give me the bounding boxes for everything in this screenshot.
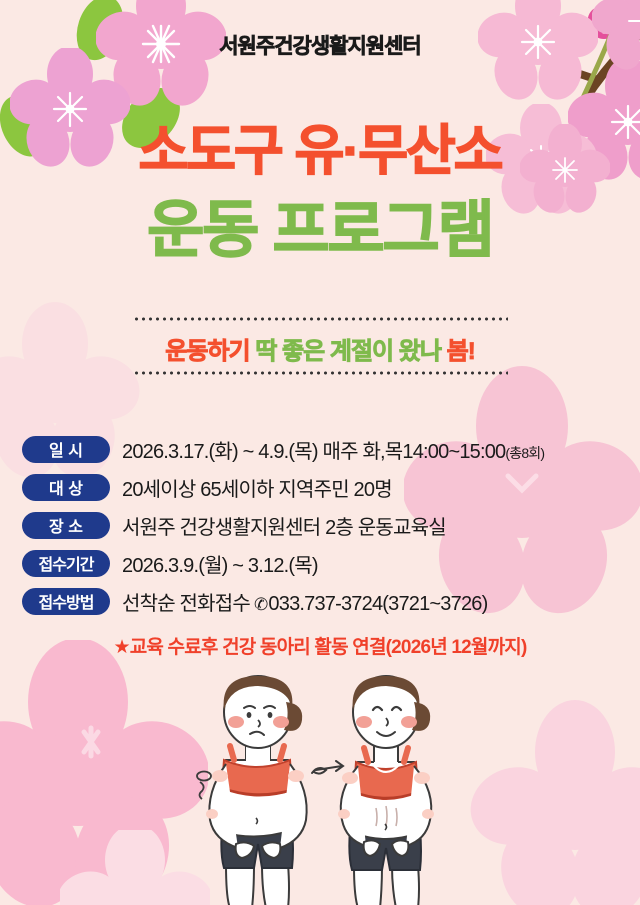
phone-icon: ✆ [254, 595, 267, 614]
title-line-1: 소도구 유·무산소 [0, 124, 640, 178]
info-value-date-suffix: (총8회) [505, 445, 544, 461]
figure-before [206, 676, 307, 905]
info-value-date-text: 2026.3.17.(화) ~ 4.9.(목) 매주 화,목14:00~15:0… [122, 441, 505, 463]
footnote: ★교육 수료후 건강 동아리 활동 연결(2026년 12월까지) [0, 632, 640, 659]
poster-canvas: 서원주건강생활지원센터 소도구 유·무산소 운동 프로그램 운동하기 딱 좋은 … [0, 0, 640, 905]
info-row-method: 접수방법 선착순 전화접수✆033.737-3724(3721~3726) [22, 582, 622, 620]
dotted-divider-bottom [133, 371, 508, 375]
watermark-blossom-bottom-left [60, 830, 210, 905]
info-label-target: 대 상 [22, 474, 110, 501]
tagline-part-2: 딱 좋은 계절이 왔나 [255, 338, 441, 365]
figure-after [338, 676, 434, 905]
info-value-target: 20세이상 65세이하 지역주민 20명 [122, 473, 392, 502]
organization-name: 서원주건강생활지원센터 [0, 30, 640, 60]
title-line-2: 운동 프로그램 [0, 200, 640, 262]
info-value-method-text: 선착순 전화접수 [122, 593, 250, 615]
info-label-date: 일 시 [22, 436, 110, 463]
transition-arrow [312, 761, 343, 774]
info-value-period: 2026.3.9.(월) ~ 3.12.(목) [122, 549, 318, 578]
tagline: 운동하기 딱 좋은 계절이 왔나 봄! [0, 331, 640, 366]
tagline-part-1: 운동하기 [165, 338, 249, 365]
info-row-period: 접수기간 2026.3.9.(월) ~ 3.12.(목) [22, 544, 622, 582]
before-after-illustration [196, 668, 456, 905]
watermark-blossom-left [0, 640, 208, 905]
info-row-date: 일 시 2026.3.17.(화) ~ 4.9.(목) 매주 화,목14:00~… [22, 430, 622, 468]
dotted-divider-top [133, 317, 508, 321]
phone-number[interactable]: 033.737-3724(3721~3726) [268, 593, 487, 615]
sweat-squiggle [197, 772, 211, 800]
info-value-place: 서원주 건강생활지원센터 2층 운동교육실 [122, 511, 446, 540]
info-value-method: 선착순 전화접수✆033.737-3724(3721~3726) [122, 587, 487, 616]
info-label-place: 장 소 [22, 512, 110, 539]
info-label-method: 접수방법 [22, 588, 110, 615]
watermark-blossom-bottom-right [470, 700, 640, 905]
info-label-period: 접수기간 [22, 550, 110, 577]
info-value-date: 2026.3.17.(화) ~ 4.9.(목) 매주 화,목14:00~15:0… [122, 435, 544, 464]
tagline-part-3: 봄! [447, 338, 475, 365]
info-row-place: 장 소 서원주 건강생활지원센터 2층 운동교육실 [22, 506, 622, 544]
info-table: 일 시 2026.3.17.(화) ~ 4.9.(목) 매주 화,목14:00~… [22, 430, 622, 620]
info-row-target: 대 상 20세이상 65세이하 지역주민 20명 [22, 468, 622, 506]
